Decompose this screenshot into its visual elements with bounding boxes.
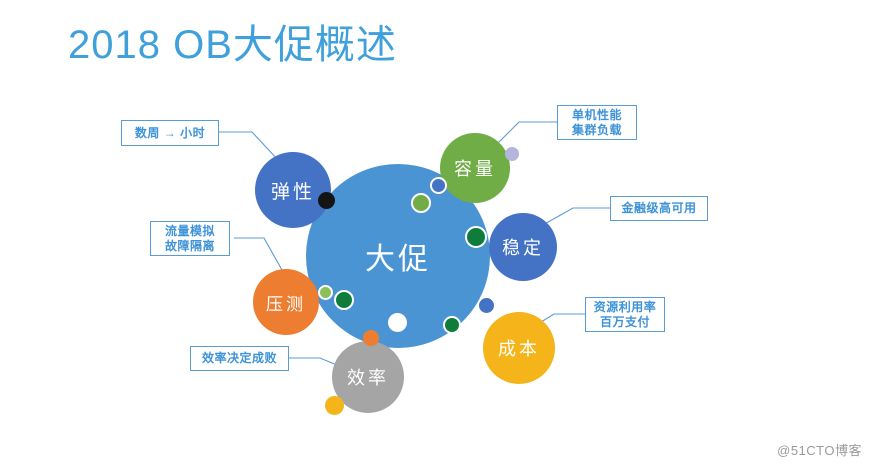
callout-pressure-line1: 流量模拟 <box>165 224 215 239</box>
callout-capacity-line1: 单机性能 <box>572 108 622 123</box>
callout-capacity[interactable]: 单机性能 集群负载 <box>557 105 637 140</box>
dot-green-dark-right <box>465 226 487 248</box>
bubble-pressure[interactable]: 压测 <box>253 269 319 335</box>
dot-blue-lower-right <box>479 298 494 313</box>
dot-orange-above-efficiency <box>363 330 379 346</box>
slide-canvas: 2018 OB大促概述 大促 弹性 容量 稳定 成本 效率 压 <box>0 0 876 471</box>
dot-yellow-bottom-left <box>325 396 344 415</box>
callout-efficiency-line1: 效率决定成败 <box>202 351 277 366</box>
bubble-capacity[interactable]: 容量 <box>440 133 510 203</box>
callout-cost[interactable]: 资源利用率 百万支付 <box>585 297 665 332</box>
callout-capacity-line2: 集群负载 <box>572 123 622 138</box>
page-title: 2018 OB大促概述 <box>68 18 397 72</box>
bubble-cost[interactable]: 成本 <box>483 312 555 384</box>
callout-efficiency[interactable]: 效率决定成败 <box>190 346 289 371</box>
dot-green-light-left <box>318 285 333 300</box>
dot-green-light-upper <box>411 193 431 213</box>
bubble-stable[interactable]: 稳定 <box>489 213 557 281</box>
bubble-elastic-label: 弹性 <box>271 177 315 204</box>
callout-cost-line2: 百万支付 <box>600 315 650 330</box>
dot-black <box>318 192 335 209</box>
watermark: @51CTO博客 <box>777 440 862 459</box>
dot-blue-upper <box>430 177 447 194</box>
callout-pressure[interactable]: 流量模拟 故障隔离 <box>150 221 230 256</box>
dot-green-dark-left <box>334 290 354 310</box>
bubble-efficiency-label: 效率 <box>347 364 389 390</box>
callout-pressure-line2: 故障隔离 <box>165 239 215 254</box>
bubble-elastic[interactable]: 弹性 <box>255 152 331 228</box>
bubble-pressure-label: 压测 <box>266 290 306 315</box>
bubble-capacity-label: 容量 <box>454 155 496 181</box>
bubble-stable-label: 稳定 <box>502 234 544 260</box>
bubble-cost-label: 成本 <box>498 335 540 361</box>
callout-stable-line1: 金融级高可用 <box>621 201 696 216</box>
dot-green-bottom-right <box>443 316 461 334</box>
callout-cost-line1: 资源利用率 <box>594 300 657 315</box>
callout-elastic-line1: 数周 → 小时 <box>135 126 205 141</box>
dot-lavender <box>505 147 519 161</box>
callout-elastic[interactable]: 数周 → 小时 <box>121 120 219 146</box>
dot-white-bottom <box>388 313 407 332</box>
callout-stable[interactable]: 金融级高可用 <box>610 196 708 221</box>
bubble-center-label: 大促 <box>365 234 431 278</box>
